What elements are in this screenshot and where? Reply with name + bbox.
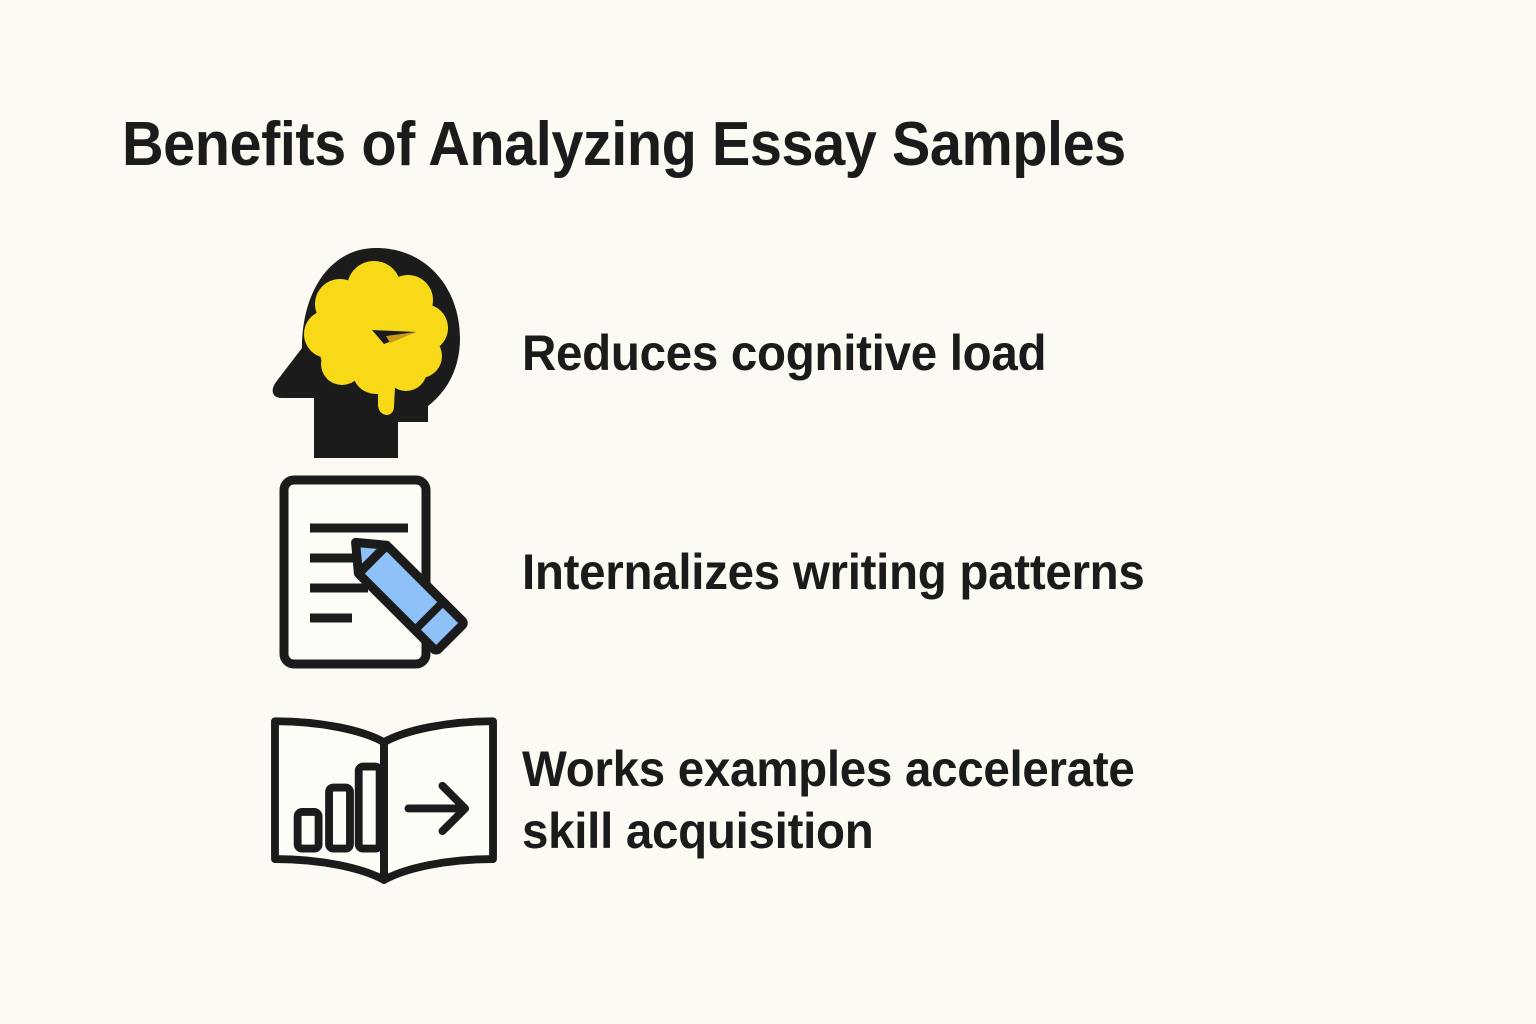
benefit-item-works-examples-accelerate: Works examples accelerate skill acquisit… [268, 700, 1167, 896]
infographic-canvas: Benefits of Analyzing Essay Samples [0, 0, 1536, 1024]
benefit-icon-slot [268, 246, 500, 460]
benefit-item-reduces-cognitive-load: Reduces cognitive load [268, 246, 1074, 460]
document-pencil-icon [268, 472, 474, 672]
benefit-label: Reduces cognitive load [522, 322, 1046, 384]
benefit-icon-slot [268, 700, 500, 896]
benefit-icon-slot [268, 472, 500, 672]
open-book-chart-arrow-icon [268, 700, 500, 896]
benefit-item-internalizes-writing-patterns: Internalizes writing patterns [268, 472, 1177, 672]
page-title: Benefits of Analyzing Essay Samples [122, 108, 1126, 182]
head-brain-icon [268, 246, 464, 460]
benefit-label: Internalizes writing patterns [522, 541, 1145, 603]
benefit-label: Works examples accelerate skill acquisit… [522, 738, 1135, 862]
